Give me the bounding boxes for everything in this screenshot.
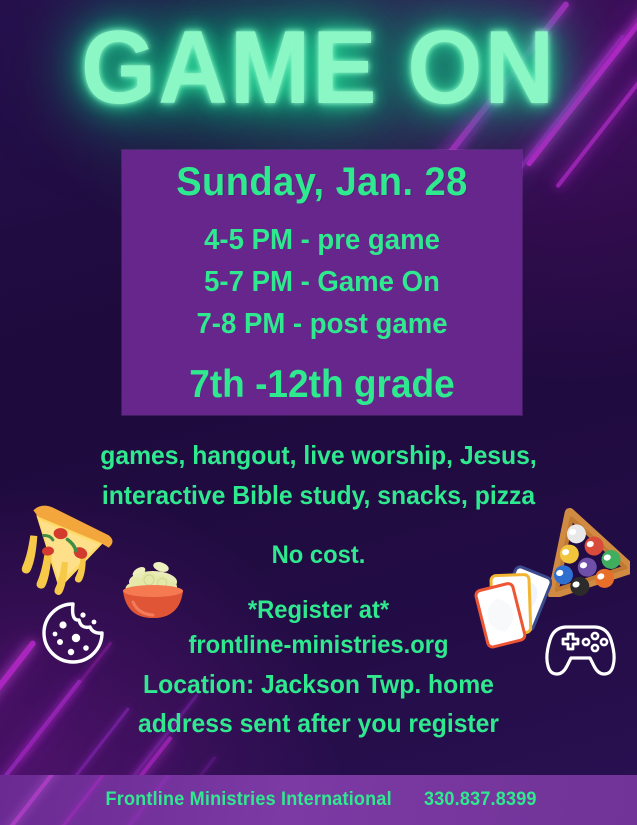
event-date: Sunday, Jan. 28 [132, 160, 512, 205]
game-controller-icon [543, 617, 618, 677]
poster-title: GAME ON [22, 18, 614, 120]
poster-canvas: GAME ON Sunday, Jan. 28 4-5 PM - pre gam… [0, 0, 637, 825]
description-line-1: games, hangout, live worship, Jesus, [16, 436, 621, 476]
cookie-icon [38, 598, 108, 668]
location-line-1: Location: Jackson Twp. home [16, 665, 621, 704]
footer-bar: Frontline Ministries International 330.8… [0, 775, 637, 825]
playing-cards-icon [474, 563, 552, 653]
footer-content: Frontline Ministries International 330.8… [98, 789, 540, 811]
poster-title-wrapper: GAME ON [0, 18, 637, 120]
schedule-line-1: 4-5 PM - pre game [132, 219, 512, 261]
neon-streak [0, 775, 67, 825]
location-block: Location: Jackson Twp. home address sent… [0, 665, 637, 743]
pizza-slice-icon [8, 503, 120, 611]
footer-phone[interactable]: 330.837.8399 [424, 789, 537, 811]
popcorn-bowl-icon [113, 558, 193, 626]
schedule-line-2: 5-7 PM - Game On [132, 261, 512, 303]
schedule-line-3: 7-8 PM - post game [132, 303, 512, 345]
details-panel: Sunday, Jan. 28 4-5 PM - pre game 5-7 PM… [122, 150, 522, 415]
grade-range: 7th -12th grade [132, 363, 512, 407]
location-line-2: address sent after you register [16, 704, 621, 743]
footer-organization: Frontline Ministries International [105, 789, 391, 811]
